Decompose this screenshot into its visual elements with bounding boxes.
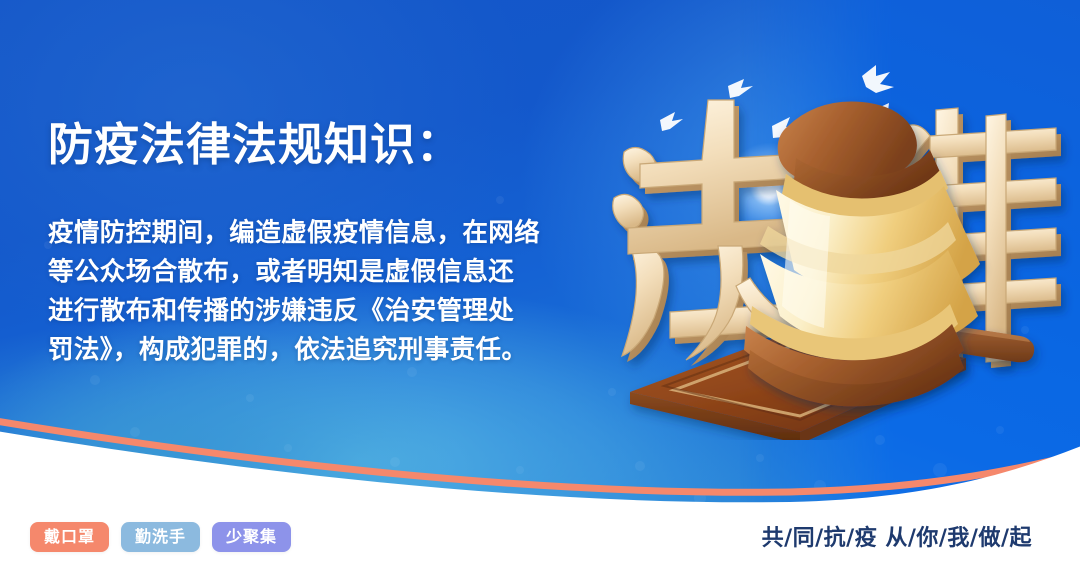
body-line-3: 进行散布和传播的涉嫌违反《治安管理处 bbox=[48, 292, 548, 331]
poster-canvas: 防疫法律法规知识： 疫情防控期间，编造虚假疫情信息，在网络 等公众场合散布，或者… bbox=[0, 0, 1080, 584]
body-line-2: 等公众场合散布，或者明知是虚假信息还 bbox=[48, 253, 548, 292]
tag-avoid-crowds[interactable]: 少聚集 bbox=[212, 522, 291, 552]
body-line-1: 疫情防控期间，编造虚假疫情信息，在网络 bbox=[48, 214, 548, 253]
prevention-tag-list: 戴口罩 勤洗手 少聚集 bbox=[30, 522, 291, 552]
page-title: 防疫法律法规知识： bbox=[48, 118, 462, 171]
artwork-law-gavel bbox=[600, 40, 1080, 440]
campaign-slogan: 共/同/抗/疫 从/你/我/做/起 bbox=[762, 528, 1032, 550]
tag-wear-mask[interactable]: 戴口罩 bbox=[30, 522, 109, 552]
body-paragraph: 疫情防控期间，编造虚假疫情信息，在网络 等公众场合散布，或者明知是虚假信息还 进… bbox=[48, 214, 548, 370]
white-wave-fill bbox=[0, 430, 1080, 584]
body-line-4: 罚法》，构成犯罪的，依法追究刑事责任。 bbox=[48, 331, 548, 370]
bottom-wave bbox=[0, 414, 1080, 584]
tag-wash-hands[interactable]: 勤洗手 bbox=[121, 522, 200, 552]
